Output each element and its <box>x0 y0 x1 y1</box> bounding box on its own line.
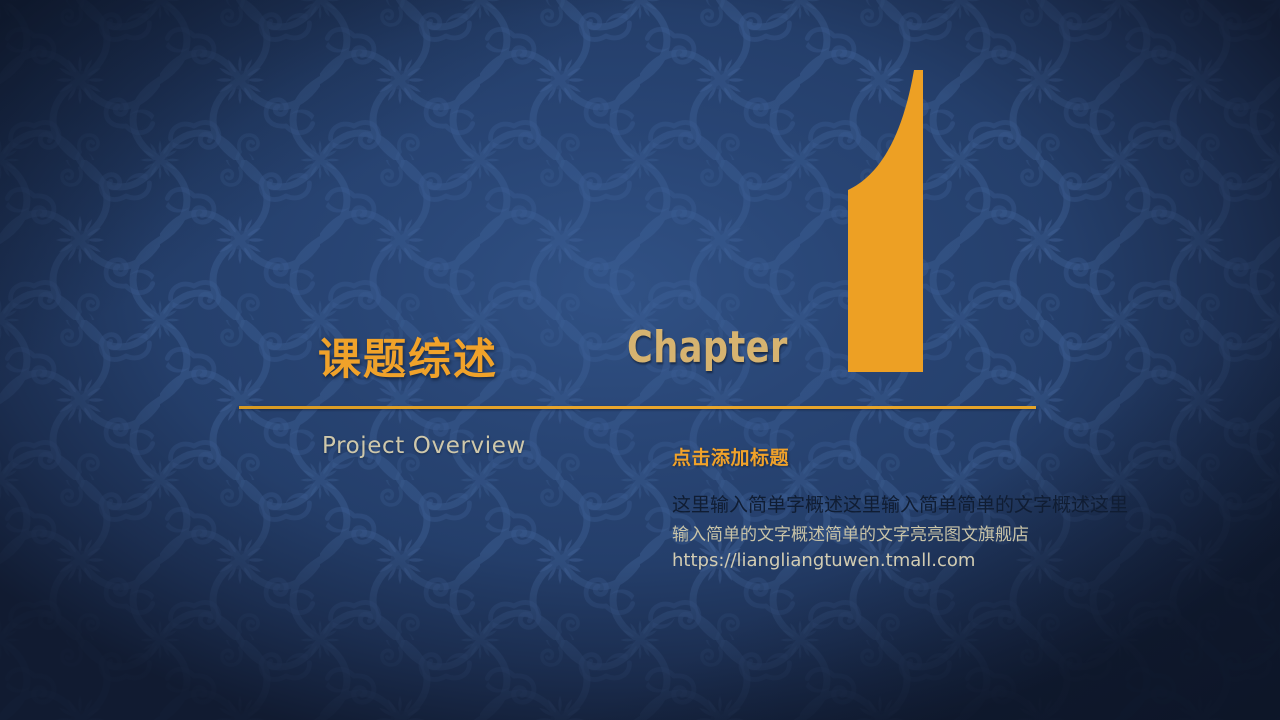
presentation-slide: Chapter 课题综述 Project Overview 点击添加标题 这里输… <box>0 0 1280 720</box>
chapter-number-graphic <box>770 58 935 378</box>
body-url: https://liangliangtuwen.tmall.com <box>672 548 1142 574</box>
title-divider <box>239 406 1036 409</box>
body-heading: 点击添加标题 <box>672 443 1142 470</box>
body-note: 输入简单的文字概述简单的文字亮亮图文旗舰店 <box>672 523 1142 548</box>
slide-content: Chapter 课题综述 Project Overview 点击添加标题 这里输… <box>0 0 1280 720</box>
body-paragraph: 这里输入简单字概述这里输入简单简单的文字概述这里 <box>672 492 1135 519</box>
page-title: 课题综述 <box>318 337 498 383</box>
body-text-block: 点击添加标题 这里输入简单字概述这里输入简单简单的文字概述这里 输入简单的文字概… <box>672 443 1142 574</box>
chapter-label: Chapter <box>627 326 788 370</box>
number-one-icon <box>770 58 935 378</box>
page-subtitle: Project Overview <box>322 433 526 459</box>
